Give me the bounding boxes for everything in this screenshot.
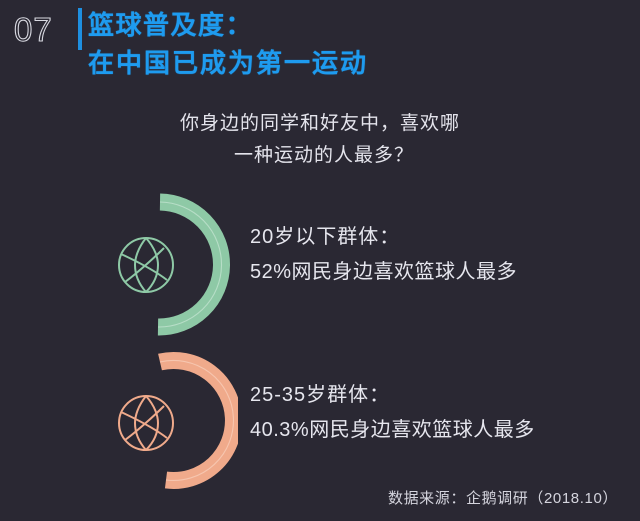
section-number: 07: [14, 10, 53, 50]
stat-row-25-35: 25-35岁群体： 40.3%网民身边喜欢篮球人最多: [0, 348, 640, 498]
stat-detail-label: 40.3%网民身边喜欢篮球人最多: [250, 412, 535, 448]
gauge-arc-green: [158, 202, 222, 327]
question-text: 你身边的同学和好友中，喜欢哪 一种运动的人最多？: [0, 108, 640, 172]
data-source-note: 数据来源：企鹅调研（2018.10）: [388, 489, 618, 509]
question-line-1: 你身边的同学和好友中，喜欢哪: [0, 108, 640, 140]
header: 07 篮球普及度： 在中国已成为第一运动: [0, 0, 640, 108]
stat-text-under-20: 20岁以下群体： 52%网民身边喜欢篮球人最多: [250, 220, 517, 290]
basketball-gauge-green: [108, 190, 238, 340]
stat-detail-label: 52%网民身边喜欢篮球人最多: [250, 254, 517, 290]
basketball-icon-orange: [119, 396, 173, 450]
gauge-arc-orange: [160, 360, 233, 480]
infographic-slide: 07 篮球普及度： 在中国已成为第一运动 你身边的同学和好友中，喜欢哪 一种运动…: [0, 0, 640, 521]
title-line-1: 篮球普及度：: [88, 6, 628, 44]
stat-group-label: 25-35岁群体：: [250, 378, 535, 412]
title-block: 篮球普及度： 在中国已成为第一运动: [88, 6, 628, 82]
question-line-2: 一种运动的人最多？: [0, 140, 640, 172]
title-line-2: 在中国已成为第一运动: [88, 44, 628, 82]
stat-text-25-35: 25-35岁群体： 40.3%网民身边喜欢篮球人最多: [250, 378, 535, 448]
title-divider-rule: [78, 8, 82, 50]
stat-group-label: 20岁以下群体：: [250, 220, 517, 254]
basketball-icon-green: [119, 238, 173, 292]
stat-row-under-20: 20岁以下群体： 52%网民身边喜欢篮球人最多: [0, 190, 640, 340]
basketball-gauge-orange: [108, 348, 238, 498]
